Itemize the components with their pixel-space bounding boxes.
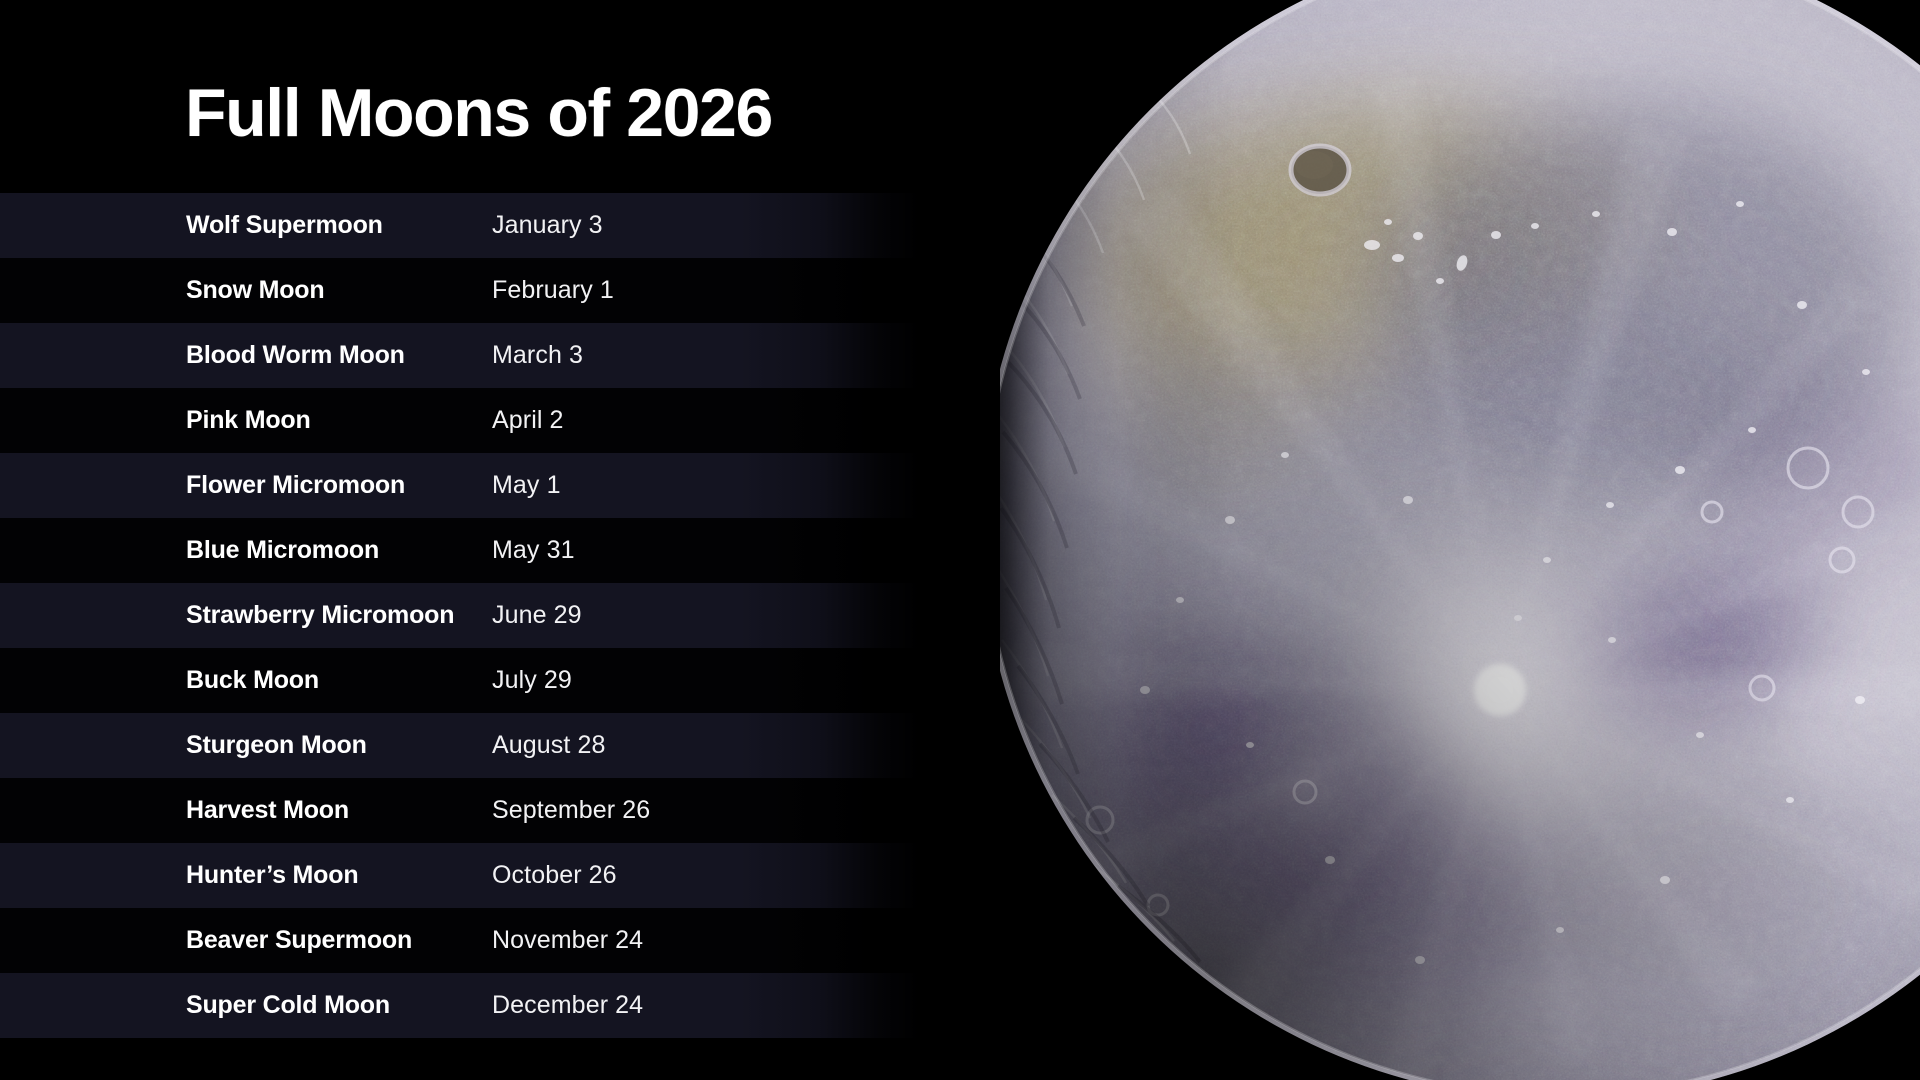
table-row[interactable]: Hunter’s MoonOctober 26 [0, 843, 1080, 908]
moon-date: January 3 [492, 211, 603, 240]
moon-date: March 3 [492, 341, 583, 370]
table-row[interactable]: Snow MoonFebruary 1 [0, 258, 1080, 323]
moon-name: Strawberry Micromoon [0, 601, 492, 630]
moon-date: February 1 [492, 276, 614, 305]
moon-name: Buck Moon [0, 666, 492, 695]
table-row[interactable]: Pink MoonApril 2 [0, 388, 1080, 453]
moon-date: October 26 [492, 861, 617, 890]
moon-name: Blue Micromoon [0, 536, 492, 565]
moon-name: Pink Moon [0, 406, 492, 435]
table-row[interactable]: Blue MicromoonMay 31 [0, 518, 1080, 583]
moon-calendar-panel: Full Moons of 2026 Wolf SupermoonJanuary… [0, 0, 1080, 1080]
moon-name: Wolf Supermoon [0, 211, 492, 240]
table-row[interactable]: Blood Worm MoonMarch 3 [0, 323, 1080, 388]
table-row[interactable]: Harvest MoonSeptember 26 [0, 778, 1080, 843]
table-row[interactable]: Beaver SupermoonNovember 24 [0, 908, 1080, 973]
ray-system [989, 75, 1920, 1080]
craters [1087, 146, 1873, 964]
moon-date: December 24 [492, 991, 643, 1020]
poster-canvas: Full Moons of 2026 Wolf SupermoonJanuary… [0, 0, 1920, 1080]
table-row[interactable]: Flower MicromoonMay 1 [0, 453, 1080, 518]
table-row[interactable]: Sturgeon MoonAugust 28 [0, 713, 1080, 778]
moon-name: Super Cold Moon [0, 991, 492, 1020]
moon-name: Harvest Moon [0, 796, 492, 825]
table-row[interactable]: Strawberry MicromoonJune 29 [0, 583, 1080, 648]
table-row[interactable]: Buck MoonJuly 29 [0, 648, 1080, 713]
moon-date: May 1 [492, 471, 561, 500]
table-row[interactable]: Wolf SupermoonJanuary 3 [0, 193, 1080, 258]
table-row[interactable]: Super Cold MoonDecember 24 [0, 973, 1080, 1038]
moon-date: November 24 [492, 926, 643, 955]
moon-date: July 29 [492, 666, 572, 695]
moon-name: Hunter’s Moon [0, 861, 492, 890]
moon-date: April 2 [492, 406, 564, 435]
moon-name: Snow Moon [0, 276, 492, 305]
page-title: Full Moons of 2026 [185, 78, 772, 149]
moon-date: May 31 [492, 536, 575, 565]
full-moon-table: Wolf SupermoonJanuary 3Snow MoonFebruary… [0, 193, 1080, 1038]
moon-disc [960, 0, 1920, 1080]
moon-date: June 29 [492, 601, 582, 630]
moon-name: Beaver Supermoon [0, 926, 492, 955]
moon-name: Blood Worm Moon [0, 341, 492, 370]
moon-name: Flower Micromoon [0, 471, 492, 500]
moon-name: Sturgeon Moon [0, 731, 492, 760]
moon-date: August 28 [492, 731, 606, 760]
moon-date: September 26 [492, 796, 650, 825]
